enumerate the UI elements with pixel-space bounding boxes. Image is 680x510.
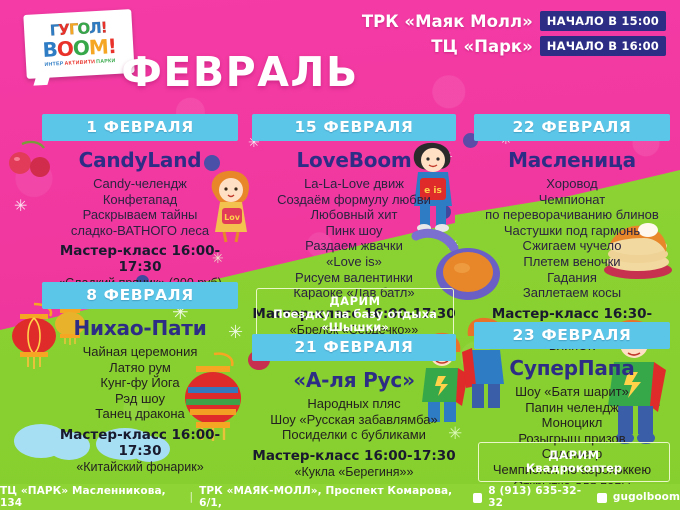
event-title: СуперПапа [474,356,670,380]
event-block-1-february: 1 ФЕВРАЛЯ CandyLand Candy-челендж Конфет… [42,114,238,290]
footer-phone[interactable]: 8 (913) 635-32-32 [488,485,591,509]
activity-item: Candy-челендж [42,176,238,192]
activity-item: Рэд шоу [42,391,238,407]
event-activity-list: Candy-челендж Конфетапад Раскрываем тайн… [42,176,238,238]
event-title: «А-ля Рус» [252,368,456,392]
activity-item: Раздаем жвачки [252,238,456,254]
activity-item: Создаём формулу любви [252,192,456,208]
venue-row: ТЦ «Парк» НАЧАЛО В 16:00 [362,36,666,56]
footer-separator: | [189,491,193,503]
masterclass-time: Мастер-класс 16:00-17:30 [42,243,238,275]
event-title: Масленица [474,148,670,172]
venue-start-time: НАЧАЛО В 15:00 [540,11,666,31]
masterclass-name: «Китайский фонарик» [42,460,238,474]
activity-item: Частушки под гармонь [474,223,670,239]
event-title: CandyLand [42,148,238,172]
activity-item: Заплетаем косы [474,285,670,301]
event-title: LoveBoom [252,148,456,172]
event-block-21-february: 21 ФЕВРАЛЯ «А-ля Рус» Народных пляс Шоу … [252,334,456,479]
event-date-badge: 22 ФЕВРАЛЯ [474,114,670,141]
gift-prize-line-2: «Шышки» [257,321,453,334]
activity-item: Рисуем валентинки [252,270,456,286]
activity-item: Хоровод [474,176,670,192]
event-date-badge: 1 ФЕВРАЛЯ [42,114,238,141]
venue-name: ТРК «Маяк Молл» [362,12,533,31]
vk-icon[interactable] [597,493,607,503]
masterclass-time: Мастер-класс 16:00-17:30 [42,427,238,459]
activity-item: Чемпионат [474,192,670,208]
activity-item: La-La-Love движ [252,176,456,192]
activity-item: «Love is» [252,254,456,270]
event-date-badge: 8 ФЕВРАЛЯ [42,282,238,309]
gift-label: ДАРИМ [257,294,453,308]
activity-item: Конфетапад [42,192,238,208]
activity-item: Шоу «Русская забавлямба» [252,412,456,428]
activity-item: по переворачиванию блинов [474,207,670,223]
activity-item: Любовный хит [252,207,456,223]
activity-item: сладко-ВАТНОГО леса [42,223,238,239]
phone-icon [473,493,483,503]
event-date-badge: 15 ФЕВРАЛЯ [252,114,456,141]
event-date-badge: 23 ФЕВРАЛЯ [474,322,670,349]
activity-item: Народных пляс [252,396,456,412]
gift-box-quadcopter: ДАРИМ Квадрокоптер [478,442,670,482]
activity-item: Кунг-фу Йога [42,375,238,391]
event-block-8-february: 8 ФЕВРАЛЯ Нихао-Пати Чайная церемония Ла… [42,282,238,474]
activity-item: Посиделки с бубликами [252,427,456,443]
activity-item: Латяо рум [42,360,238,376]
activity-item: Шоу «Батя шарит» [474,384,670,400]
gift-label: ДАРИМ [479,448,669,462]
activity-item: Пинк шоу [252,223,456,239]
activity-item: Гадания [474,270,670,286]
venue-start-time: НАЧАЛО В 16:00 [540,36,666,56]
footer-address-mayak: ТРК «МАЯК-МОЛЛ», Проспект Комарова, 6/1, [199,485,467,509]
venue-row: ТРК «Маяк Молл» НАЧАЛО В 15:00 [362,11,666,31]
activity-item: Сжигаем чучело [474,238,670,254]
masterclass-name: «Кукла «Берегиня»» [252,465,456,479]
event-activity-list: Чайная церемония Латяо рум Кунг-фу Йога … [42,344,238,422]
footer-social-handle[interactable]: gugolboom [613,491,680,503]
event-activity-list: Народных пляс Шоу «Русская забавлямба» П… [252,396,456,443]
event-activity-list: Хоровод Чемпионат по переворачиванию бли… [474,176,670,301]
event-activity-list: La-La-Love движ Создаём формулу любви Лю… [252,176,456,301]
sparkle-icon: ✳ [14,196,27,216]
venue-name: ТЦ «Парк» [431,37,533,56]
activity-item: Раскрываем тайны [42,207,238,223]
footer-bar: ТЦ «ПАРК» Масленникова, 134 | ТРК «МАЯК-… [0,484,680,510]
event-block-22-february: 22 ФЕВРАЛЯ Масленица Хоровод Чемпионат п… [474,114,670,353]
event-date-badge: 21 ФЕВРАЛЯ [252,334,456,361]
poster-header: ГУГОЛ! BOOM! ИНТЕРАКТИВИТИПАРКИ ФЕВРАЛЬ … [0,0,680,108]
gift-prize-line-1: Квадрокоптер [479,462,669,475]
activity-item: Чайная церемония [42,344,238,360]
activity-item: Плетем веночки [474,254,670,270]
activity-item: Папин челендж [474,400,670,416]
masterclass-time: Мастер-класс 16:00-17:30 [252,448,456,464]
event-title: Нихао-Пати [42,316,238,340]
activity-item: Танец дракона [42,406,238,422]
activity-item: Моноцикл [474,415,670,431]
poster-canvas: ГУГОЛ! BOOM! ИНТЕРАКТИВИТИПАРКИ ФЕВРАЛЬ … [0,0,680,510]
footer-address-park: ТЦ «ПАРК» Масленникова, 134 [0,485,183,509]
venue-info: ТРК «Маяк Молл» НАЧАЛО В 15:00 ТЦ «Парк»… [362,11,666,61]
